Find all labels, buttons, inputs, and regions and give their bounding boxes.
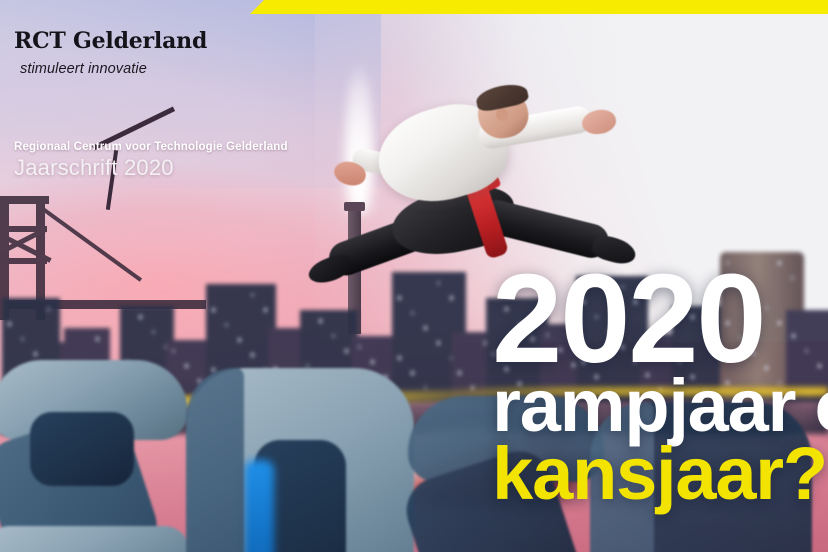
cover-headline: 2020 rampjaar of kansjaar?: [492, 270, 828, 508]
headline-line-3: kansjaar?: [492, 440, 828, 508]
headline-line-1: 2020: [492, 270, 828, 368]
headline-line-2: rampjaar of: [492, 372, 828, 440]
page-title: Jaarschrift 2020: [14, 155, 288, 181]
back-shoe: [305, 251, 354, 289]
brand-tagline: stimuleert innovatie: [20, 61, 207, 77]
subtitle-kicker: Regionaal Centrum voor Technologie Gelde…: [14, 141, 288, 153]
ear: [496, 108, 508, 121]
brand-name: RCT Gelderland: [14, 30, 207, 52]
subtitle-block: Regionaal Centrum voor Technologie Gelde…: [14, 141, 288, 181]
brand-logo: RCT Gelderland stimuleert innovatie: [14, 30, 207, 77]
magazine-cover: RCT Gelderland stimuleert innovatie Regi…: [0, 0, 828, 552]
sculpture-digit-2a: [0, 350, 200, 552]
top-yellow-accent-bar: [250, 0, 828, 14]
sculpture-digit-0a: [186, 368, 416, 552]
